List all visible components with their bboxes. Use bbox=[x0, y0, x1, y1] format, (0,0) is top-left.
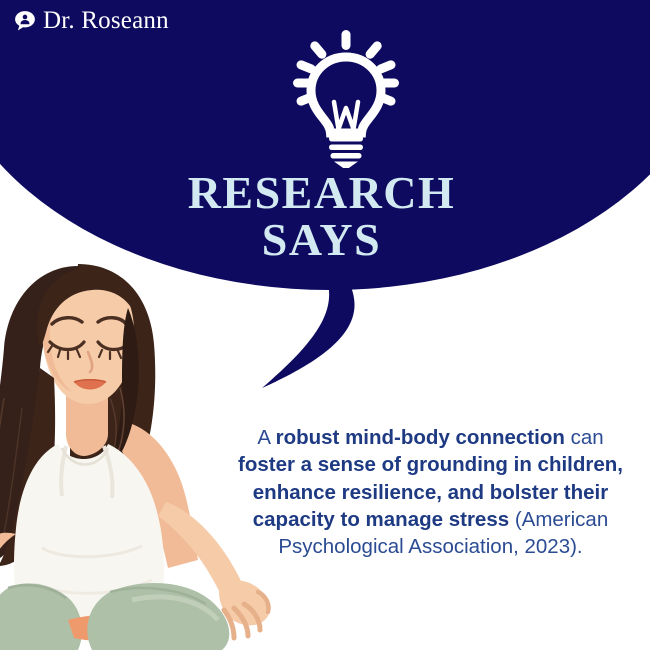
social-graphic-canvas: Dr. Roseann RESEARCH SAYS bbox=[0, 0, 650, 650]
quote-paragraph: A robust mind-body connection can foster… bbox=[228, 424, 633, 560]
lightbulb-idea-icon bbox=[277, 28, 415, 168]
brand-name: Dr. Roseann bbox=[43, 8, 169, 33]
quote-seg-0: A bbox=[257, 426, 275, 449]
quote-seg-2: can bbox=[565, 426, 604, 449]
quote-seg-1: robust mind-body connection bbox=[276, 426, 565, 449]
headline-line-research: RESEARCH bbox=[0, 170, 650, 215]
speech-bubble-person-icon bbox=[14, 10, 36, 32]
brand-logo[interactable]: Dr. Roseann bbox=[14, 8, 169, 33]
